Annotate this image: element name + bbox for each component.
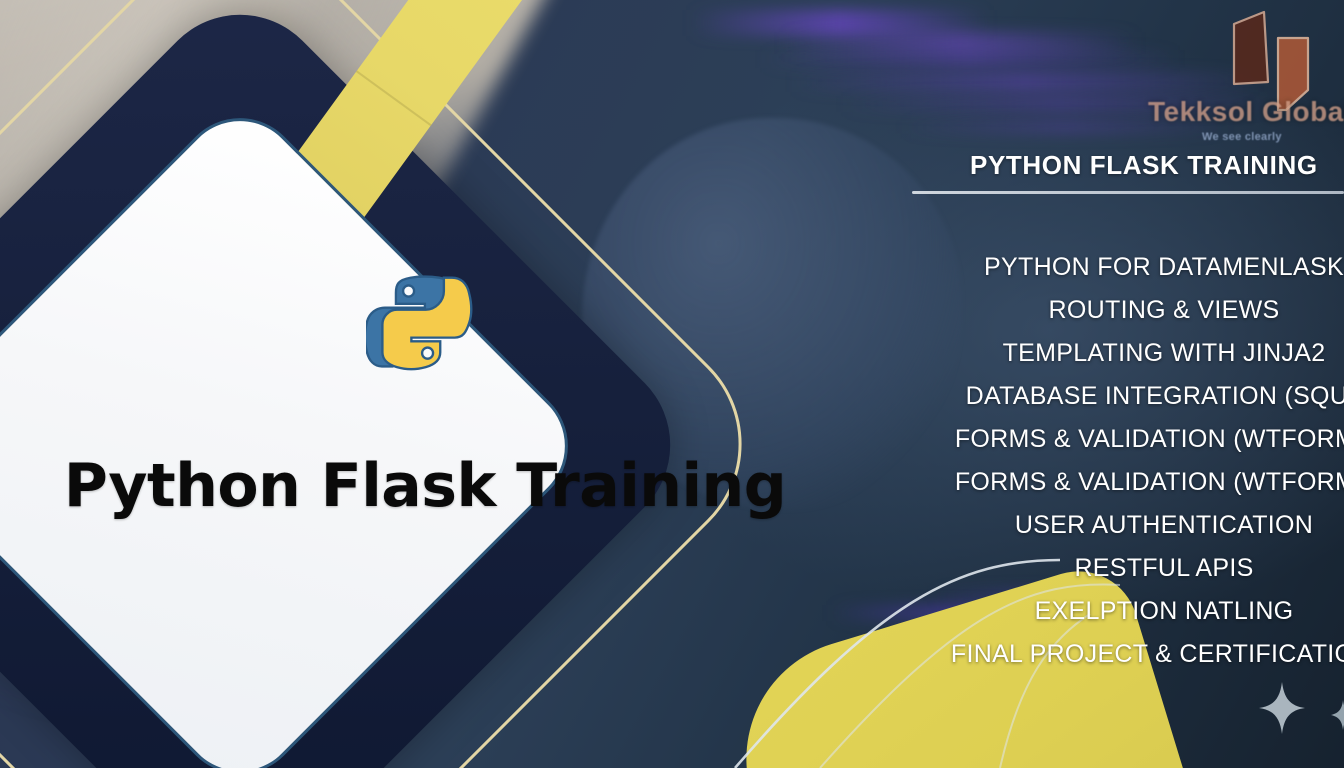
poster-canvas: Python Flask Training Tekksol Global We … [0,0,1344,768]
list-item: RESTFUL APIS [912,547,1344,590]
card-title: Python Flask Training [64,451,786,521]
list-item: FINAL PROJECT & CERTIFICATIO F [912,633,1344,676]
purple-streak [760,50,1180,68]
purple-streak [690,10,990,36]
python-logo-icon [366,268,484,391]
brand-name: Tekksol Global [1148,96,1344,128]
sparkle-icon-small [1330,700,1344,730]
brand-tagline: We see clearly [1202,131,1282,143]
list-item: DATABASE INTEGRATION (SQUL [912,375,1344,418]
title-divider [912,191,1344,194]
page-title: PYTHON FLASK TRAINING [912,150,1344,181]
list-item: TEMPLATING WITH JINJA2 [912,332,1344,375]
list-item: FORMS & VALIDATION (WTFORMS [912,461,1344,504]
card-content: Python Flask Training [75,250,775,670]
topic-list: PYTHON FOR DATAMENLASK ROUTING & VIEWS T… [912,246,1344,676]
list-item: USER AUTHENTICATION [912,504,1344,547]
sparkle-icon [1258,682,1306,734]
list-item: FORMS & VALIDATION (WTFORMS [912,418,1344,461]
right-panel: PYTHON FLASK TRAINING PYTHON FOR DATAMEN… [912,150,1344,676]
list-item: PYTHON FOR DATAMENLASK [912,246,1344,289]
list-item: EXELPTION NATLING [912,590,1344,633]
purple-streak [780,32,1140,54]
list-item: ROUTING & VIEWS [912,289,1344,332]
